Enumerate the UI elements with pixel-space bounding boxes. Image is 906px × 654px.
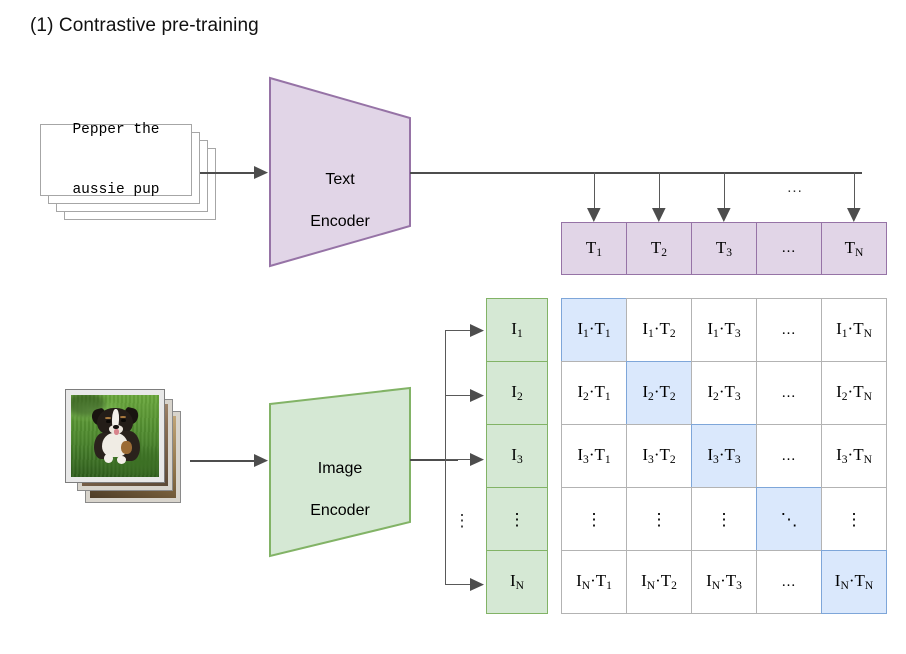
image-embedding-cell-1[interactable]: I1 xyxy=(486,298,548,362)
table-row: IN·T1 IN·T2 IN·T3 ... IN·TN xyxy=(561,550,887,614)
matrix-cell-2-4-label: ... xyxy=(782,386,796,401)
image-embedding-cell-ellipsis-label: ⋮ xyxy=(509,511,526,528)
matrix-cell-5-5-label: IN·TN xyxy=(835,571,873,592)
text-encoder-label-line2: Encoder xyxy=(268,211,412,232)
matrix-cell-3-1[interactable]: I3·T1 xyxy=(561,424,627,488)
arrowhead-i2 xyxy=(470,389,486,403)
text-embedding-cell-1[interactable]: T1 xyxy=(561,222,627,275)
text-embedding-cell-1-label: T1 xyxy=(586,238,602,259)
text-card-line2: aussie pup xyxy=(72,180,159,200)
matrix-cell-2-3-label: I2·T3 xyxy=(707,382,740,403)
matrix-cell-3-3[interactable]: I3·T3 xyxy=(691,424,757,488)
matrix-cell-1-4[interactable]: ... xyxy=(756,298,822,362)
page-title: (1) Contrastive pre-training xyxy=(30,15,259,37)
table-row: I2·T1 I2·T2 I2·T3 ... I2·TN xyxy=(561,361,887,425)
matrix-cell-1-3-label: I1·T3 xyxy=(707,319,740,340)
text-embedding-row: T1 T2 T3 ... TN xyxy=(561,222,887,275)
matrix-cell-1-3[interactable]: I1·T3 xyxy=(691,298,757,362)
text-embedding-cell-3[interactable]: T3 xyxy=(691,222,757,275)
matrix-cell-4-1[interactable]: ⋮ xyxy=(561,487,627,551)
matrix-cell-2-2-label: I2·T2 xyxy=(642,382,675,403)
text-embedding-cell-n-label: TN xyxy=(845,238,864,259)
connector-text-encoder-trunk xyxy=(410,172,862,174)
table-row: I1·T1 I1·T2 I1·T3 ... I1·TN xyxy=(561,298,887,362)
text-encoder-label-line1: Text xyxy=(268,169,412,190)
matrix-cell-4-3[interactable]: ⋮ xyxy=(691,487,757,551)
connector-text-to-encoder xyxy=(200,172,258,174)
table-row: ⋮ ⋮ ⋮ ⋱ ⋮ xyxy=(561,487,887,551)
matrix-cell-5-3[interactable]: IN·T3 xyxy=(691,550,757,614)
matrix-cell-2-4[interactable]: ... xyxy=(756,361,822,425)
matrix-cell-1-5[interactable]: I1·TN xyxy=(821,298,887,362)
matrix-cell-5-3-label: IN·T3 xyxy=(706,571,742,592)
matrix-cell-5-5[interactable]: IN·TN xyxy=(821,550,887,614)
matrix-cell-3-3-label: I3·T3 xyxy=(707,445,740,466)
matrix-cell-5-2[interactable]: IN·T2 xyxy=(626,550,692,614)
connector-t1-drop xyxy=(594,172,595,212)
matrix-cell-1-5-label: I1·TN xyxy=(836,319,872,340)
matrix-cell-4-1-label: ⋮ xyxy=(586,511,603,528)
matrix-cell-4-4-label: ⋱ xyxy=(781,511,798,528)
image-embedding-cell-2-label: I2 xyxy=(511,382,522,403)
matrix-cell-4-5-label: ⋮ xyxy=(846,511,863,528)
text-embedding-cell-2[interactable]: T2 xyxy=(626,222,692,275)
matrix-cell-1-1[interactable]: I1·T1 xyxy=(561,298,627,362)
matrix-cell-2-5-label: I2·TN xyxy=(836,382,872,403)
text-card-line1: Pepper the xyxy=(72,120,159,140)
image-embedding-cell-n-label: IN xyxy=(510,571,524,592)
matrix-cell-3-5[interactable]: I3·TN xyxy=(821,424,887,488)
image-embedding-cell-ellipsis[interactable]: ⋮ xyxy=(486,487,548,551)
connector-t2-drop xyxy=(659,172,660,212)
text-embedding-cell-3-label: T3 xyxy=(716,238,732,259)
arrowhead-i1 xyxy=(470,324,486,338)
image-card-front xyxy=(66,390,164,482)
matrix-cell-3-2[interactable]: I3·T2 xyxy=(626,424,692,488)
connector-t3-drop xyxy=(724,172,725,212)
arrowhead-in xyxy=(470,578,486,592)
matrix-cell-4-2-label: ⋮ xyxy=(651,511,668,528)
connector-tn-drop xyxy=(854,172,855,212)
matrix-cell-2-3[interactable]: I2·T3 xyxy=(691,361,757,425)
matrix-cell-5-4[interactable]: ... xyxy=(756,550,822,614)
image-embedding-column: I1 I2 I3 ⋮ IN xyxy=(486,298,548,614)
arrowhead-i3 xyxy=(470,453,486,467)
text-card-front: Pepper the aussie pup xyxy=(40,124,192,196)
matrix-cell-3-5-label: I3·TN xyxy=(836,445,872,466)
connector-image-branch-spine xyxy=(445,330,446,584)
table-row: I3·T1 I3·T2 I3·T3 ... I3·TN xyxy=(561,424,887,488)
matrix-cell-5-1-label: IN·T1 xyxy=(576,571,612,592)
image-encoder-label: Image Encoder xyxy=(268,437,412,542)
image-embedding-cell-n[interactable]: IN xyxy=(486,550,548,614)
matrix-cell-4-2[interactable]: ⋮ xyxy=(626,487,692,551)
matrix-cell-2-2[interactable]: I2·T2 xyxy=(626,361,692,425)
text-embedding-cell-2-label: T2 xyxy=(651,238,667,259)
diagram-canvas: (1) Contrastive pre-training Pepper the … xyxy=(0,0,906,654)
matrix-cell-1-2-label: I1·T2 xyxy=(642,319,675,340)
text-encoder-label: Text Encoder xyxy=(268,148,412,253)
image-embedding-cell-2[interactable]: I2 xyxy=(486,361,548,425)
connector-t-ellipsis: ... xyxy=(780,180,810,195)
matrix-cell-1-4-label: ... xyxy=(782,323,796,338)
matrix-cell-4-4[interactable]: ⋱ xyxy=(756,487,822,551)
similarity-matrix: I1·T1 I1·T2 I1·T3 ... I1·TN I2·T1 I2·T2 … xyxy=(561,298,887,614)
image-encoder-label-line2: Encoder xyxy=(268,500,412,521)
text-embedding-cell-ellipsis-label: ... xyxy=(782,241,796,256)
text-embedding-cell-n[interactable]: TN xyxy=(821,222,887,275)
text-embedding-cell-ellipsis[interactable]: ... xyxy=(756,222,822,275)
matrix-cell-2-5[interactable]: I2·TN xyxy=(821,361,887,425)
matrix-cell-4-3-label: ⋮ xyxy=(716,511,733,528)
matrix-cell-1-2[interactable]: I1·T2 xyxy=(626,298,692,362)
matrix-cell-3-2-label: I3·T2 xyxy=(642,445,675,466)
image-embedding-cell-3[interactable]: I3 xyxy=(486,424,548,488)
matrix-cell-2-1-label: I2·T1 xyxy=(577,382,610,403)
image-embedding-cell-1-label: I1 xyxy=(511,319,522,340)
matrix-cell-5-1[interactable]: IN·T1 xyxy=(561,550,627,614)
matrix-cell-3-4-label: ... xyxy=(782,449,796,464)
matrix-cell-3-4[interactable]: ... xyxy=(756,424,822,488)
connector-i-ellipsis: ⋮ xyxy=(452,512,472,529)
matrix-cell-4-5[interactable]: ⋮ xyxy=(821,487,887,551)
puppy-photo xyxy=(71,395,159,477)
image-encoder-label-line1: Image xyxy=(268,458,412,479)
matrix-cell-3-1-label: I3·T1 xyxy=(577,445,610,466)
matrix-cell-1-1-label: I1·T1 xyxy=(577,319,610,340)
matrix-cell-2-1[interactable]: I2·T1 xyxy=(561,361,627,425)
matrix-cell-5-2-label: IN·T2 xyxy=(641,571,677,592)
connector-image-to-encoder xyxy=(190,460,258,462)
matrix-cell-5-4-label: ... xyxy=(782,575,796,590)
image-embedding-cell-3-label: I3 xyxy=(511,445,522,466)
